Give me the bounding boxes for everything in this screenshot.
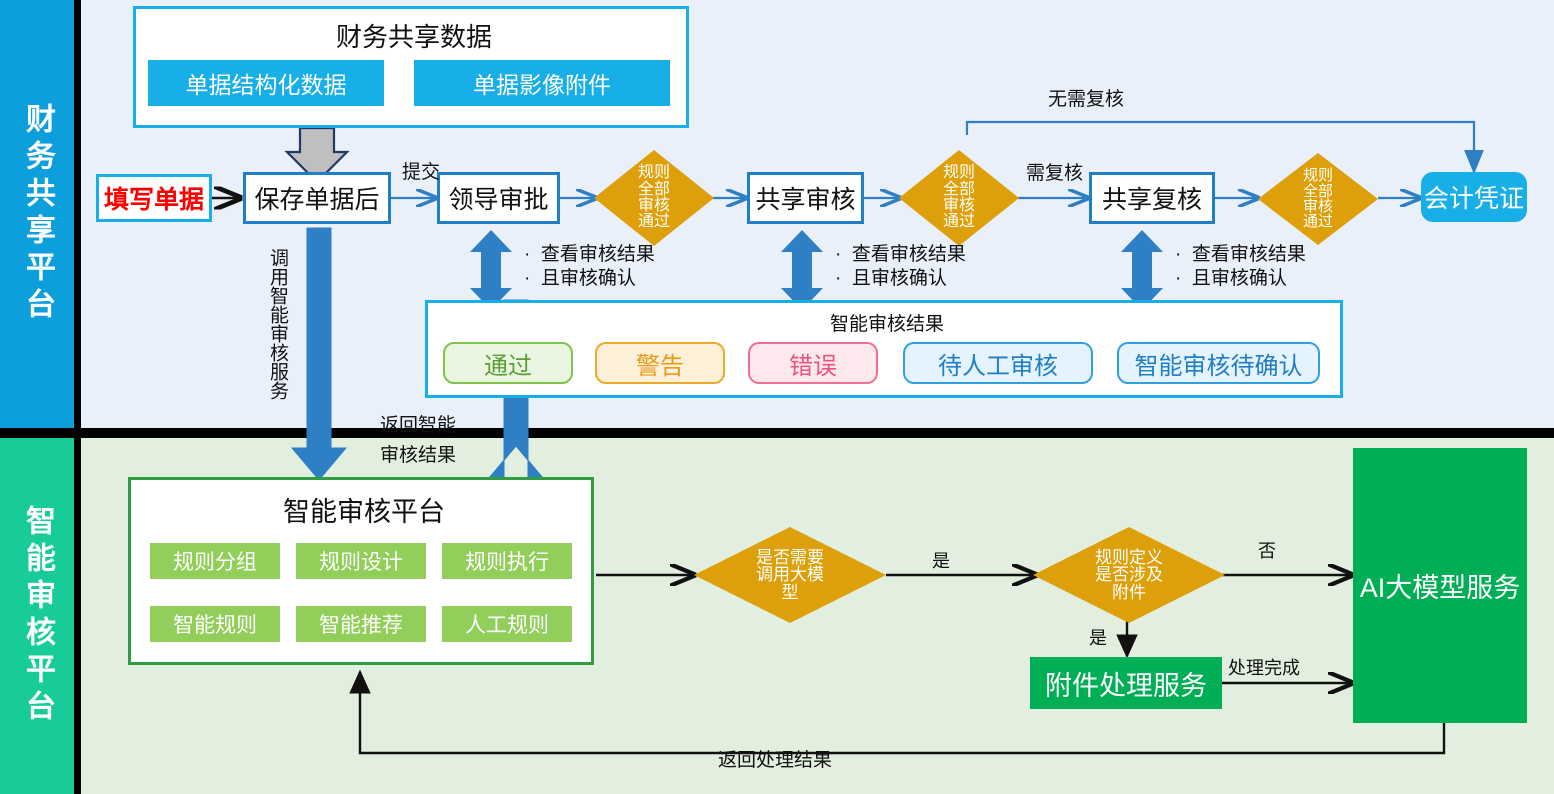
status-badge-error[interactable]: 错误: [748, 342, 878, 384]
bullet-text: 且审核确认: [852, 268, 947, 289]
edge-label-process-done: 处理完成: [1228, 654, 1300, 680]
decision-2-label: 规则全部审核通过: [943, 165, 975, 230]
smart-audit-result-title: 智能审核结果: [428, 309, 1346, 336]
bullet-text: 查看审核结果: [1192, 244, 1306, 265]
decision-all-rules-passed-3[interactable]: 规则全部审核通过: [1258, 153, 1378, 245]
decision-1-label: 规则全部审核通过: [638, 165, 670, 230]
decision-rule-involves-attachment[interactable]: 规则定义是否涉及附件: [1033, 527, 1225, 623]
node-fill-document[interactable]: 填写单据: [96, 174, 212, 222]
decision-3-label: 规则全部审核通过: [1303, 168, 1333, 229]
edge-label-need-recheck: 需复核: [1026, 158, 1083, 185]
bullets-leader-approval: · 查看审核结果 · 且审核确认: [524, 243, 655, 292]
tile-smart-recommendation[interactable]: 智能推荐: [296, 606, 426, 642]
tile-manual-rule[interactable]: 人工规则: [442, 606, 572, 642]
bullets-shared-recheck: · 查看审核结果 · 且审核确认: [1175, 243, 1306, 292]
smart-audit-platform-title: 智能审核平台: [131, 490, 597, 529]
rail-finance-shared-platform: 财务共享平台: [0, 0, 74, 428]
node-after-save-document[interactable]: 保存单据后: [243, 172, 391, 224]
edge-label-yes-2: 是: [1089, 624, 1107, 650]
edge-label-return-result-line1: 返回智能: [380, 410, 456, 437]
decision-all-rules-passed-2[interactable]: 规则全部审核通过: [899, 150, 1019, 246]
tile-rule-grouping[interactable]: 规则分组: [150, 543, 280, 579]
decision-need-large-model[interactable]: 是否需要调用大模型: [694, 527, 886, 623]
bullet-text: 查看审核结果: [541, 244, 655, 265]
finance-shared-data-title: 财务共享数据: [136, 17, 692, 54]
decision-need-large-model-label: 是否需要调用大模型: [756, 549, 824, 601]
node-shared-recheck[interactable]: 共享复核: [1089, 172, 1215, 224]
tile-rule-execution[interactable]: 规则执行: [442, 543, 572, 579]
node-ai-large-model-service[interactable]: AI大模型服务: [1353, 448, 1527, 723]
rail-smart-audit-platform: 智能审核平台: [0, 438, 74, 794]
status-badge-pending-manual-review[interactable]: 待人工审核: [903, 342, 1093, 384]
rail-top-label: 财务共享平台: [15, 103, 59, 325]
decision-all-rules-passed-1[interactable]: 规则全部审核通过: [594, 150, 714, 246]
edge-label-return-process-result: 返回处理结果: [718, 745, 832, 772]
diagram-canvas: 财务共享平台 智能审核平台: [0, 0, 1554, 794]
edge-label-submit: 提交: [402, 157, 440, 184]
edge-label-no-recheck: 无需复核: [1048, 84, 1124, 111]
edge-label-return-result-line2: 审核结果: [380, 440, 456, 467]
bullet-text: 查看审核结果: [852, 244, 966, 265]
node-accounting-voucher[interactable]: 会计凭证: [1421, 172, 1527, 222]
status-badge-pass[interactable]: 通过: [443, 342, 573, 384]
decision-rule-involves-attachment-label: 规则定义是否涉及附件: [1095, 549, 1163, 601]
bullet-text: 且审核确认: [541, 268, 636, 289]
data-item-image-attachment[interactable]: 单据影像附件: [414, 60, 670, 106]
edge-label-call-smart-audit-service: 调用智能审核服务: [268, 248, 287, 438]
panel-divider: [0, 428, 1554, 438]
bullet-text: 且审核确认: [1192, 268, 1287, 289]
status-badge-warning[interactable]: 警告: [595, 342, 725, 384]
bullets-shared-audit: · 查看审核结果 · 且审核确认: [835, 243, 966, 292]
node-attachment-processing-service[interactable]: 附件处理服务: [1030, 657, 1222, 709]
edge-label-no-1: 否: [1258, 537, 1276, 563]
node-shared-audit[interactable]: 共享审核: [747, 172, 864, 224]
edge-label-yes-1: 是: [932, 547, 950, 573]
status-badge-pending-smart-confirm[interactable]: 智能审核待确认: [1117, 342, 1320, 384]
node-leader-approval[interactable]: 领导审批: [437, 172, 560, 224]
data-item-structured[interactable]: 单据结构化数据: [148, 60, 384, 106]
tile-rule-design[interactable]: 规则设计: [296, 543, 426, 579]
rail-bottom-label: 智能审核平台: [15, 505, 59, 727]
tile-smart-rule[interactable]: 智能规则: [150, 606, 280, 642]
rail-separator: [74, 0, 81, 794]
